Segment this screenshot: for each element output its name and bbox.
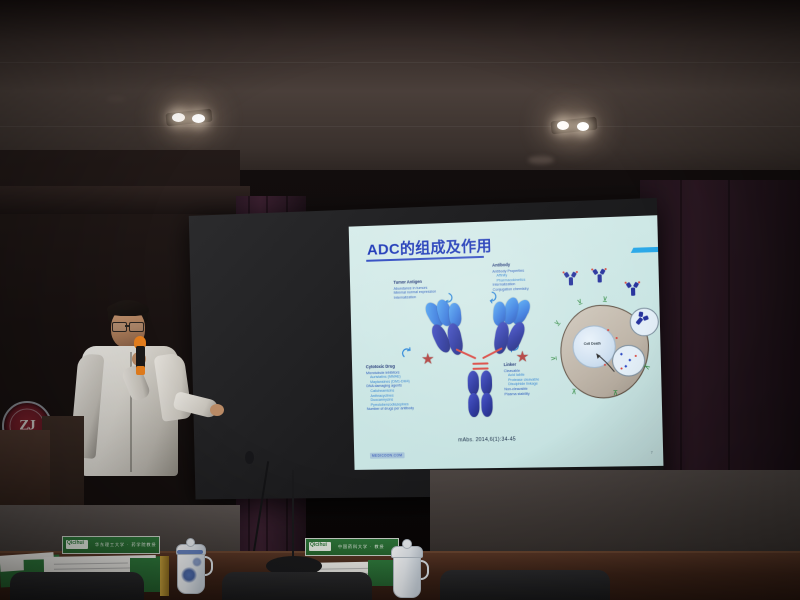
glasses-left-lens (112, 322, 127, 332)
curtain-fold (680, 180, 682, 480)
cup-lid-knob (186, 538, 195, 547)
curved-arrow-icon: ⤸ (400, 344, 413, 358)
projected-slide: ADC的组成及作用 Tumor Antigen Abundance in tum… (349, 215, 664, 470)
wall-panel (0, 186, 250, 214)
receptor-icon: ⊻ (602, 296, 608, 303)
curtain-fold (728, 180, 730, 480)
adc-molecule (625, 281, 642, 298)
cup-pattern (181, 567, 197, 583)
name-card: Qicihui 中国药科大学 · 教授 (305, 538, 399, 556)
slide-canvas: ADC的组成及作用 Tumor Antigen Abundance in tum… (349, 215, 664, 470)
cytotoxic-payload-star: ★ (421, 352, 435, 367)
ceiling-spotlight (577, 122, 589, 131)
teacup (390, 538, 430, 594)
slide-watermark: MEDICOON.COM (370, 452, 404, 458)
cup-pattern (192, 557, 202, 567)
chair-back (440, 570, 610, 600)
folder-spine (160, 556, 169, 596)
receptor-icon: ⊻ (571, 387, 577, 394)
chair-back (10, 572, 144, 600)
chair-back (222, 572, 372, 600)
cell-death-label: Cell Death (584, 341, 601, 345)
ceiling-spotlight (192, 114, 205, 123)
microphone-base (136, 366, 145, 375)
ceiling-spotlight (172, 113, 185, 122)
gooseneck-mic-head (245, 451, 254, 464)
cell-diagram: Cell Death ⊻ ⊻ ⊻ ⊻ ⊻ ⊻ ⊻ (546, 264, 663, 425)
receptor-icon: ⊻ (613, 388, 618, 395)
photo-stage: ZJ ADC的组成及作用 Tumor Antigen Abundance in … (0, 0, 800, 600)
name-card-text: 华东理工大学 · 药学院教授 (95, 542, 157, 548)
receptor-icon: ⊻ (576, 299, 584, 308)
receptor-icon: ⊻ (554, 320, 563, 328)
paper-text-line (54, 567, 138, 569)
cell-death-arrow-icon (589, 347, 619, 374)
glasses-bridge (125, 325, 129, 327)
dim-ceiling-light (528, 156, 554, 164)
slide-citation: mAbs. 2014,6(1):34-45 (458, 436, 516, 443)
slide-block-cytotoxic-drug: Cytotoxic Drug Microtubule inhibitors Au… (366, 364, 414, 412)
teacup (175, 536, 215, 592)
cup-body (393, 554, 421, 598)
slide-block-antibody: Antibody Antibody Properties Affinity Ph… (492, 262, 529, 292)
right-hand (210, 404, 224, 416)
name-card-logo-text: Qicihui (67, 540, 84, 546)
adc-molecule (591, 268, 608, 285)
name-card-logo-text: Qicihui (310, 542, 327, 548)
stage-curtain (640, 180, 800, 480)
hair-front (107, 302, 149, 316)
slide-page-number: 7 (651, 451, 653, 455)
ceiling-spotlight (557, 121, 569, 130)
ceiling-seam (0, 126, 800, 127)
fc-domain (468, 393, 480, 417)
fc-domain (468, 371, 480, 395)
slide-block-tumor-antigen: Tumor Antigen Abundance in tumors Minima… (393, 280, 436, 301)
cytotoxic-payload-star: ★ (515, 349, 529, 364)
ceiling-seam (0, 62, 800, 63)
paper-text-line (54, 563, 128, 565)
cup-lid-knob (402, 539, 412, 549)
glasses-right-lens (129, 322, 144, 332)
name-card-text: 中国药科大学 · 教授 (338, 544, 385, 550)
fc-domain (481, 370, 493, 394)
cup-rim-band (177, 550, 203, 554)
dim-ceiling-light (106, 96, 126, 102)
presenter (70, 300, 220, 530)
hinge-linker (472, 367, 488, 369)
projection-screen: ADC的组成及作用 Tumor Antigen Abundance in tum… (189, 198, 664, 500)
desk-microphone-stem (292, 470, 294, 560)
hinge-linker (472, 362, 488, 364)
receptor-icon: ⊻ (551, 355, 559, 361)
cup-body (177, 550, 205, 594)
fc-domain (481, 393, 493, 417)
antibody-diagram: ★ ★ (422, 299, 536, 422)
adc-molecule (562, 271, 579, 288)
name-card: Qicihui 华东理工大学 · 药学院教授 (62, 536, 160, 554)
